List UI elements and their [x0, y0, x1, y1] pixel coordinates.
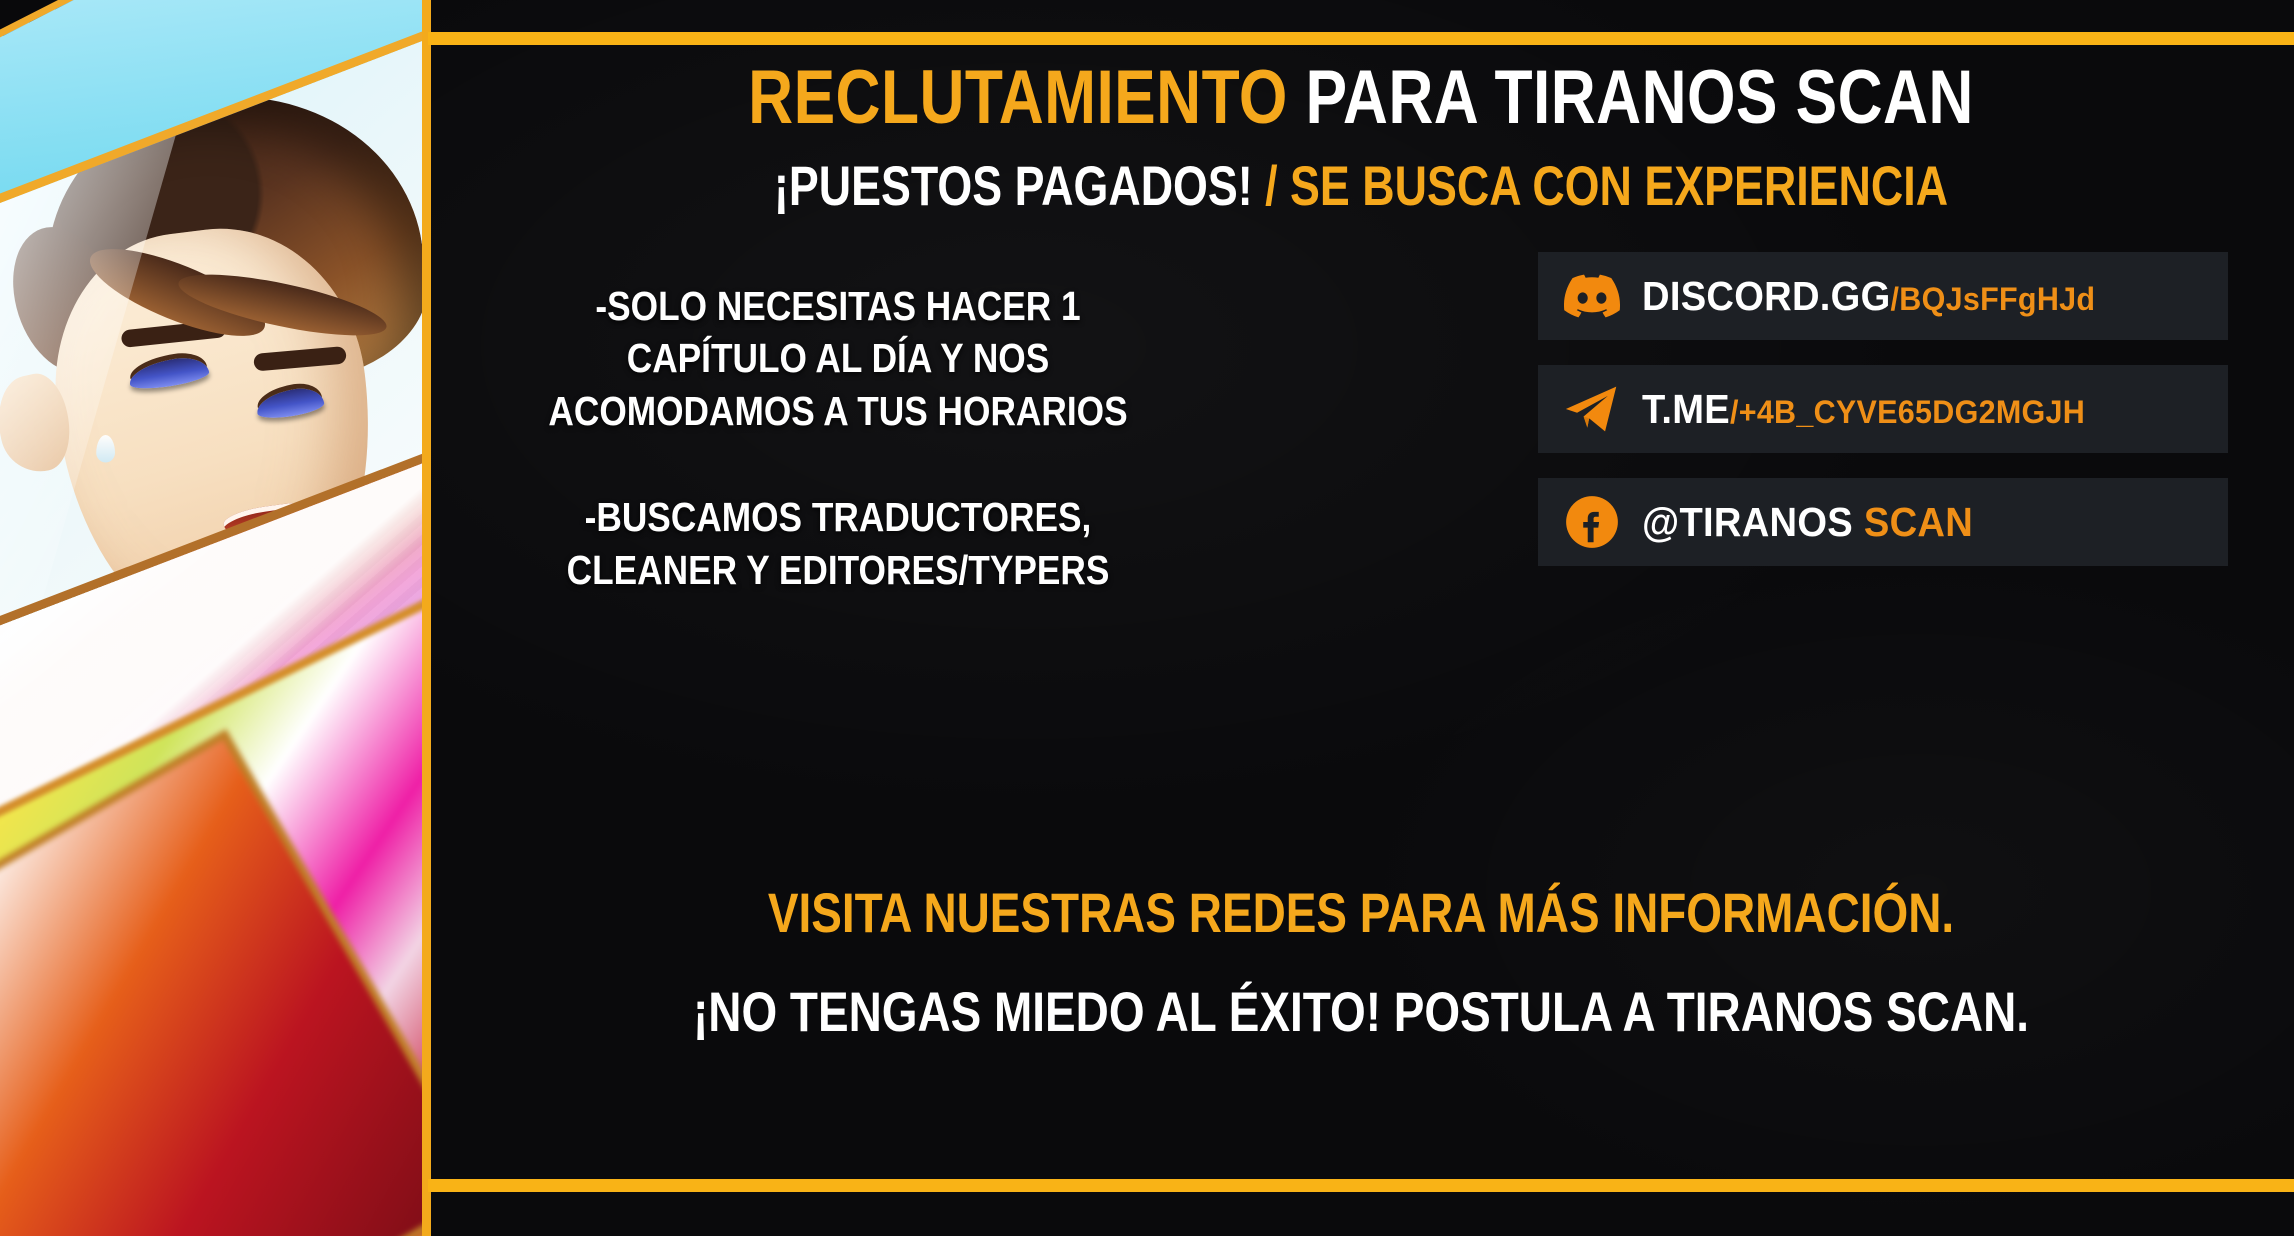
contact-links: DISCORD.GG/BQJsFFgHJd T.ME/+4B_CYVE65DG2… — [1538, 252, 2228, 591]
contact-row-telegram[interactable]: T.ME/+4B_CYVE65DG2MGJH — [1538, 365, 2228, 453]
gold-vertical-accent — [422, 0, 431, 1236]
requirements-list: -SOLO NECESITAS HACER 1 CAPÍTULO AL DÍA … — [488, 280, 1188, 650]
cta-line-secondary: ¡NO TENGAS MIEDO AL ÉXITO! POSTULA A TIR… — [629, 979, 2094, 1044]
discord-invite-code: /BQJsFFgHJd — [1891, 280, 2096, 317]
page-title: RECLUTAMIENTO PARA TIRANOS SCAN — [596, 60, 2126, 136]
cta-line-primary: VISITA NUESTRAS REDES PARA MÁS INFORMACI… — [629, 880, 2094, 945]
contact-row-discord[interactable]: DISCORD.GG/BQJsFFgHJd — [1538, 252, 2228, 340]
title-rest: PARA TIRANOS SCAN — [1306, 55, 1974, 140]
subtitle-experience: / SE BUSCA CON EXPERIENCIA — [1265, 154, 1948, 217]
recruitment-banner: RECLUTAMIENTO PARA TIRANOS SCAN ¡PUESTOS… — [0, 0, 2294, 1236]
list-item: -SOLO NECESITAS HACER 1 CAPÍTULO AL DÍA … — [537, 280, 1139, 437]
contact-text-telegram: T.ME/+4B_CYVE65DG2MGJH — [1642, 386, 2085, 433]
telegram-invite-code: /+4B_CYVE65DG2MGJH — [1730, 393, 2085, 430]
gold-bar-top — [428, 32, 2294, 45]
telegram-icon — [1564, 381, 1620, 437]
facebook-handle-suffix: SCAN — [1864, 499, 1973, 545]
facebook-handle: @TIRANOS — [1642, 499, 1853, 545]
telegram-domain: T.ME — [1642, 386, 1730, 432]
contact-text-facebook: @TIRANOS SCAN — [1642, 499, 1973, 546]
gold-bar-bottom — [428, 1179, 2294, 1192]
subtitle-paid: ¡PUESTOS PAGADOS! — [774, 154, 1253, 217]
discord-icon — [1564, 268, 1620, 324]
content-panel: RECLUTAMIENTO PARA TIRANOS SCAN ¡PUESTOS… — [428, 0, 2294, 1236]
contact-row-facebook[interactable]: @TIRANOS SCAN — [1538, 478, 2228, 566]
title-highlight: RECLUTAMIENTO — [748, 55, 1288, 140]
contact-text-discord: DISCORD.GG/BQJsFFgHJd — [1642, 273, 2095, 320]
call-to-action: VISITA NUESTRAS REDES PARA MÁS INFORMACI… — [468, 880, 2254, 1044]
list-item: -BUSCAMOS TRADUCTORES, CLEANER Y EDITORE… — [537, 491, 1139, 596]
page-subtitle: ¡PUESTOS PAGADOS! / SE BUSCA CON EXPERIE… — [615, 158, 2108, 214]
discord-domain: DISCORD.GG — [1642, 273, 1891, 319]
facebook-icon — [1564, 494, 1620, 550]
sweat-drop — [96, 435, 115, 463]
